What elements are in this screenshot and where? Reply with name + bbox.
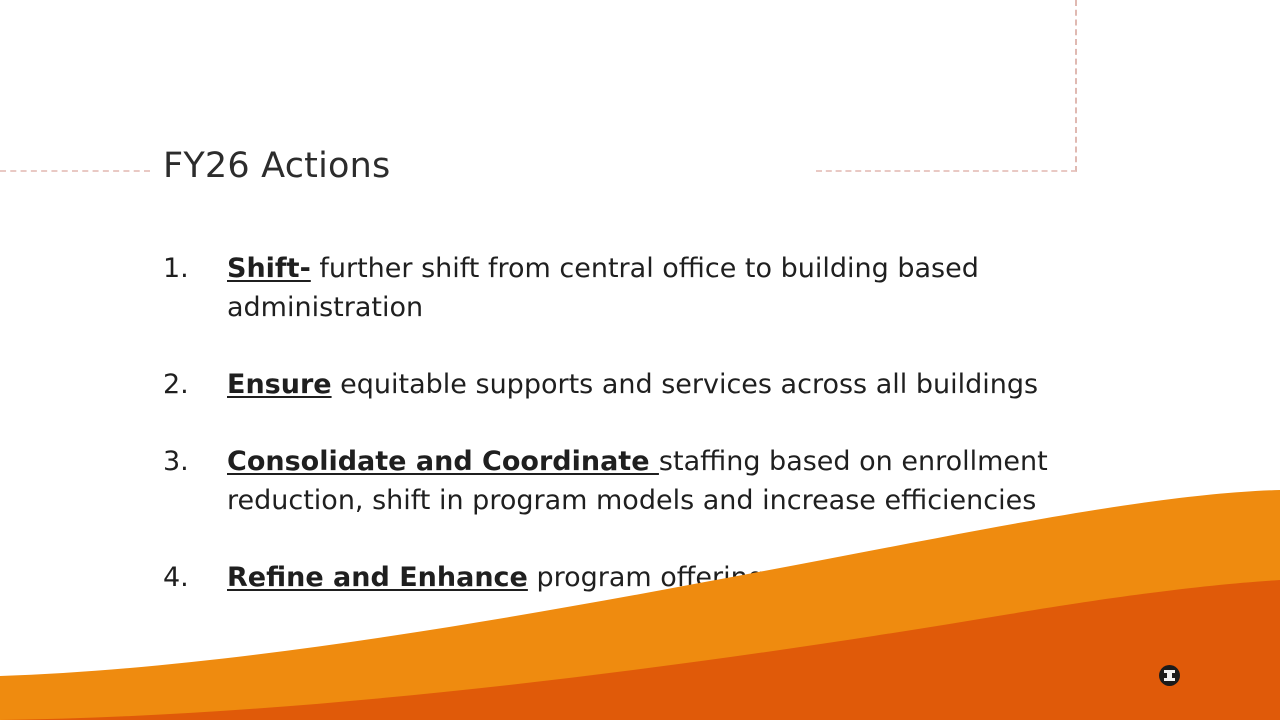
list-item-lead: Ensure — [227, 369, 332, 400]
dashed-rule-left — [0, 170, 150, 172]
list-item-rest: equitable supports and services across a… — [332, 369, 1038, 400]
list-item-lead: Shift- — [227, 253, 311, 284]
list-item-number: 1. — [163, 249, 227, 288]
list-item-text: Consolidate and Coordinate staffing base… — [227, 442, 1108, 520]
actions-list: 1. Shift- further shift from central off… — [163, 249, 1108, 597]
list-item: 3. Consolidate and Coordinate staffing b… — [163, 442, 1108, 520]
list-item-text: Ensure equitable supports and services a… — [227, 365, 1108, 404]
slide-canvas: FY26 Actions 1. Shift- further shift fro… — [0, 0, 1280, 720]
fullscreen-icon[interactable] — [1159, 665, 1180, 686]
list-item: 1. Shift- further shift from central off… — [163, 249, 1108, 327]
list-item-rest: further shift from central office to bui… — [227, 253, 979, 323]
list-item: 2. Ensure equitable supports and service… — [163, 365, 1108, 404]
wave-dark-band — [0, 580, 1280, 720]
list-item-text: Refine and Enhance program offerings — [227, 558, 1108, 597]
list-item-lead: Consolidate and Coordinate — [227, 446, 659, 477]
page-title: FY26 Actions — [163, 146, 390, 186]
list-item: 4. Refine and Enhance program offerings — [163, 558, 1108, 597]
list-item-rest: program offerings — [528, 562, 779, 593]
list-item-number: 2. — [163, 365, 227, 404]
list-item-number: 4. — [163, 558, 227, 597]
dashed-corner-frame — [816, 0, 1077, 172]
fullscreen-glyph — [1164, 670, 1175, 681]
list-item-number: 3. — [163, 442, 227, 481]
list-item-text: Shift- further shift from central office… — [227, 249, 1108, 327]
list-item-lead: Refine and Enhance — [227, 562, 528, 593]
